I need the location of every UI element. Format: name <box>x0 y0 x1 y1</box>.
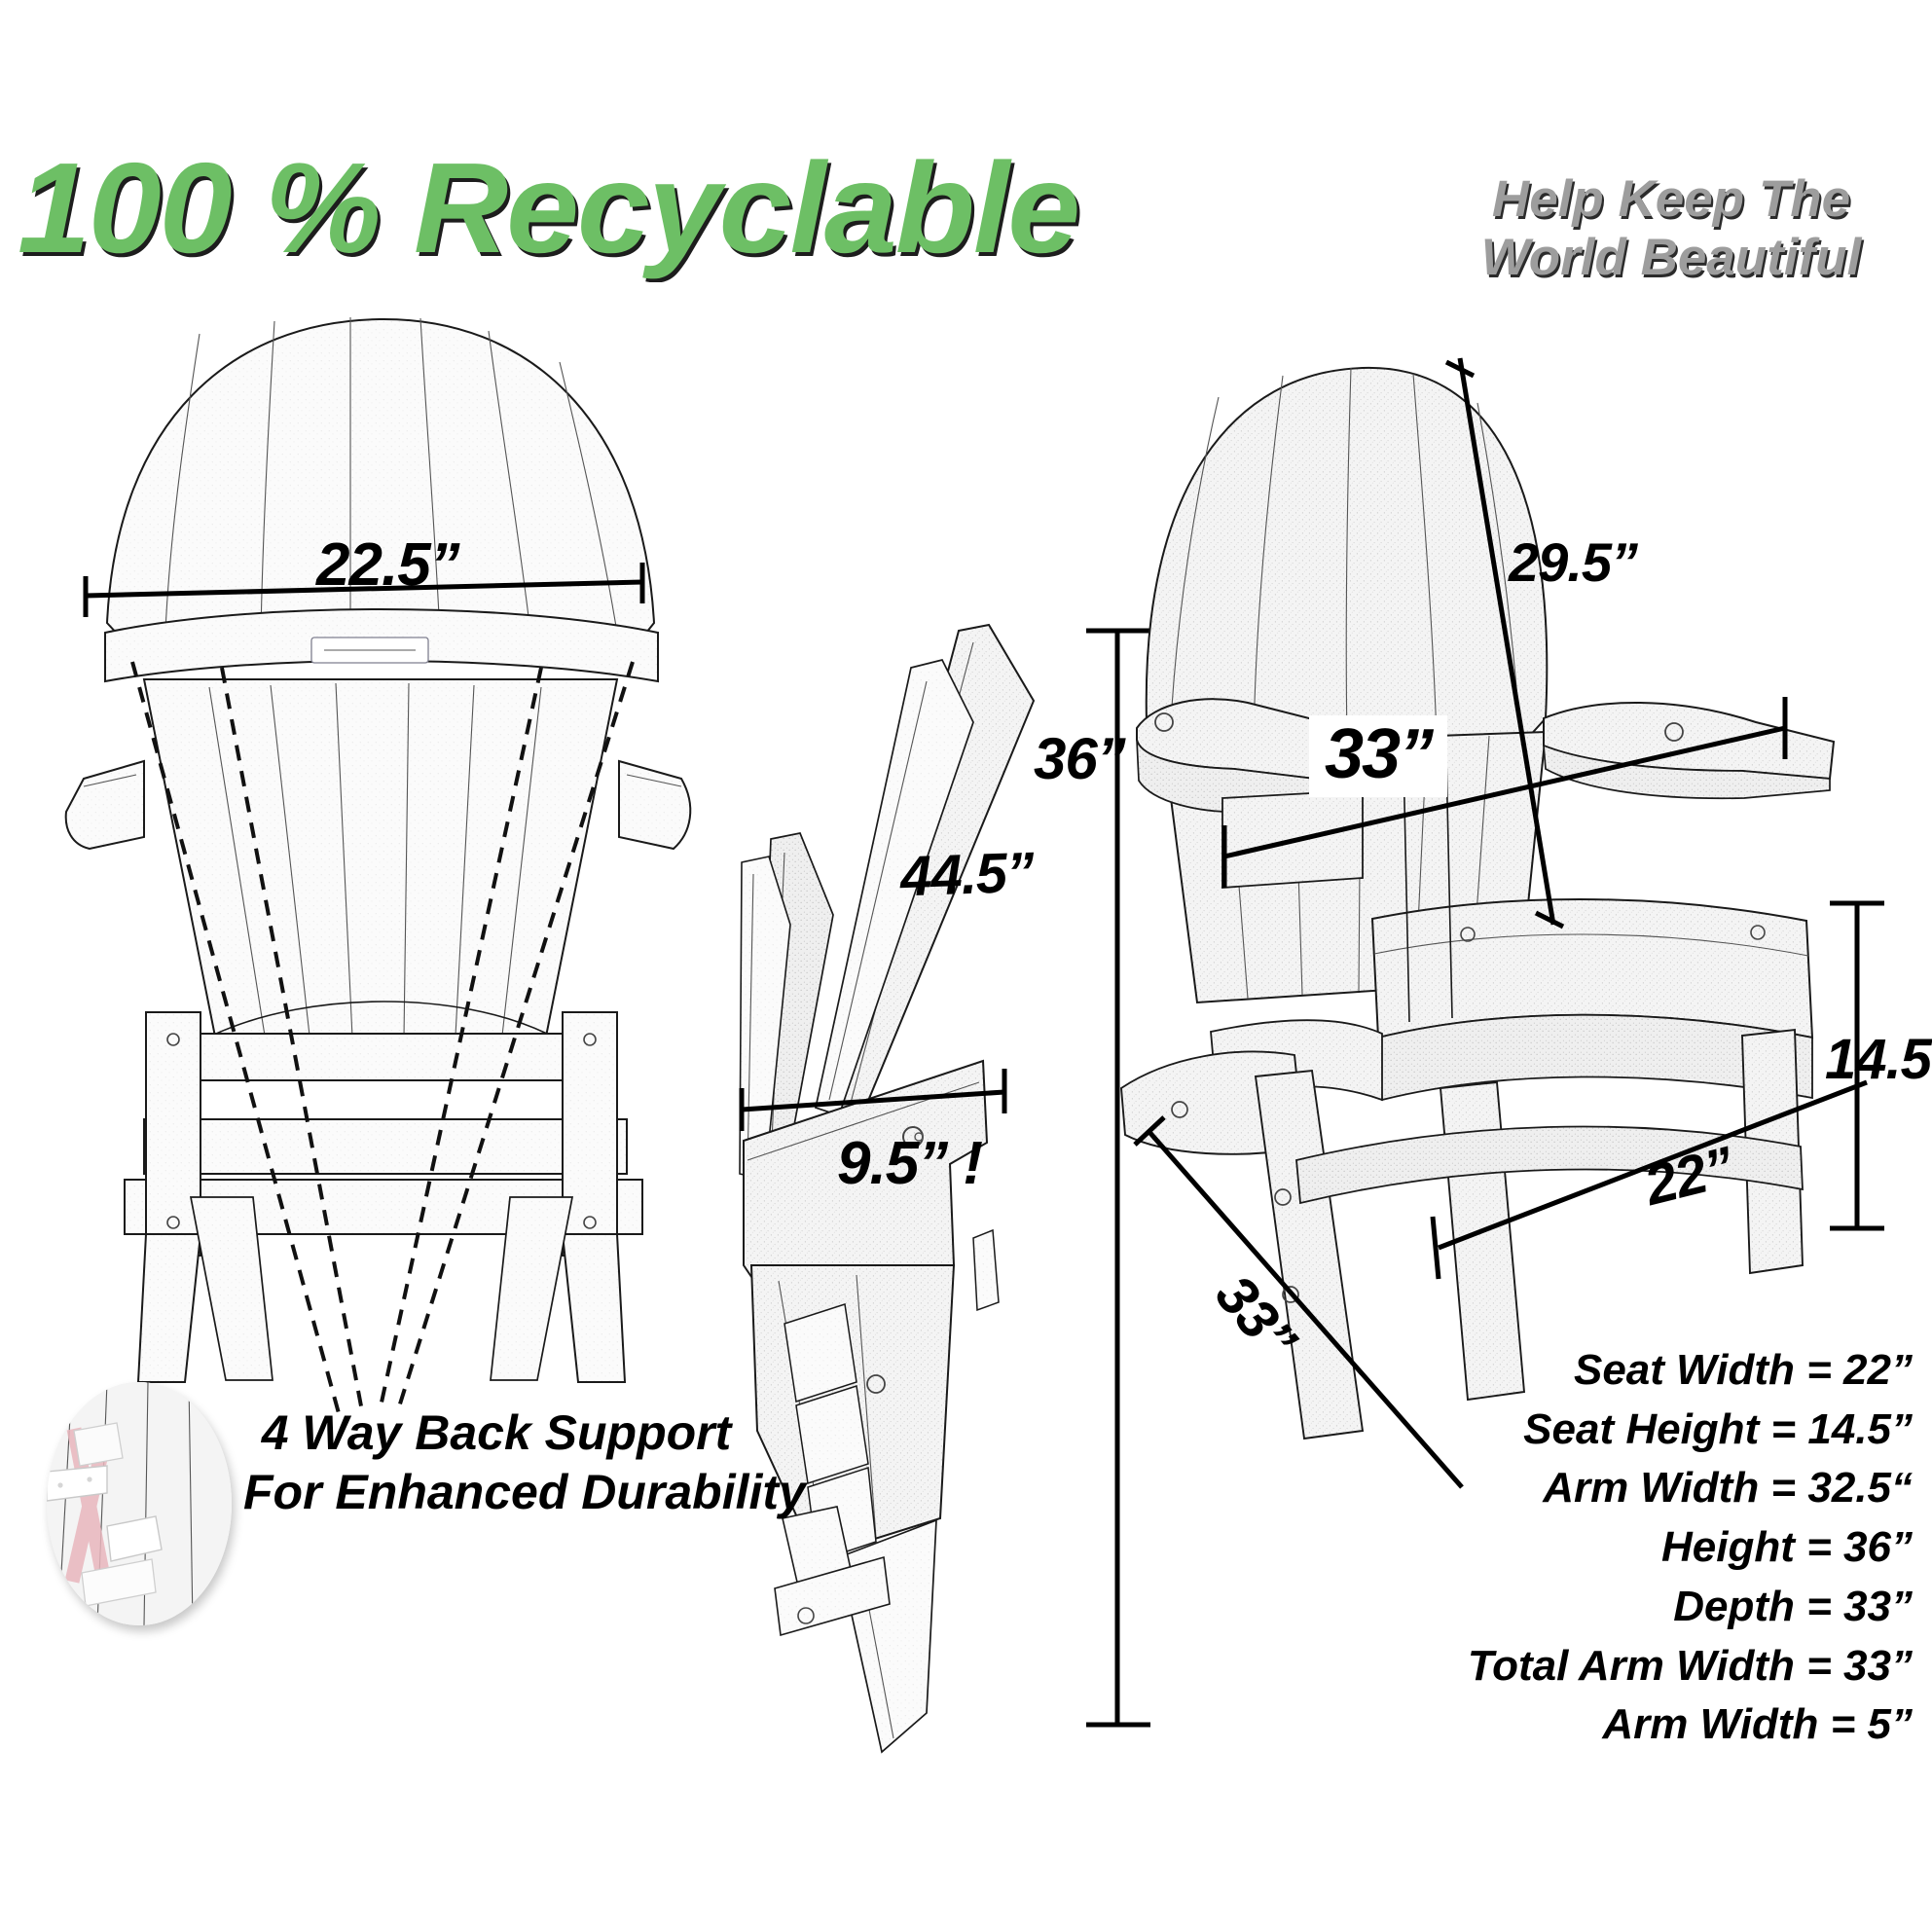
caption-line-1: 4 Way Back Support <box>243 1403 749 1463</box>
dimension-line-overall-height <box>1086 631 1150 1725</box>
badge-art <box>47 1382 232 1625</box>
dimension-label-folded-thickness: 9.5” ! <box>837 1129 982 1198</box>
dimension-label-seat-height: 14.5 <box>1825 1027 1931 1092</box>
spec-depth: Depth = 33” <box>1455 1578 1913 1637</box>
spec-seat-width: Seat Width = 22” <box>1455 1341 1913 1401</box>
back-support-detail-photo <box>47 1382 232 1625</box>
dimension-label-back-height: 29.5” <box>1509 530 1637 594</box>
product-dimension-diagram: 100 % Recyclable Help Keep The World Bea… <box>0 0 1932 1932</box>
spec-height: Height = 36” <box>1455 1518 1913 1578</box>
spec-arm-width: Arm Width = 32.5“ <box>1455 1459 1913 1518</box>
spec-total-arm-width: Total Arm Width = 33” <box>1455 1637 1913 1696</box>
dimension-label-folded-length: 44.5” <box>899 840 1035 910</box>
spec-seat-height: Seat Height = 14.5” <box>1455 1401 1913 1460</box>
dimension-label-arm-span: 33” <box>1309 715 1447 797</box>
caption-line-2: For Enhanced Durability <box>243 1463 749 1522</box>
spec-arm-width-single: Arm Width = 5” <box>1455 1695 1913 1755</box>
rear-view-chair-drawing <box>66 317 691 1413</box>
back-support-caption: 4 Way Back Support For Enhanced Durabili… <box>243 1403 749 1522</box>
specification-list: Seat Width = 22” Seat Height = 14.5” Arm… <box>1455 1341 1913 1755</box>
dimension-label-back-width: 22.5” <box>316 530 459 600</box>
dimension-label-overall-height: 36” <box>1034 725 1125 792</box>
